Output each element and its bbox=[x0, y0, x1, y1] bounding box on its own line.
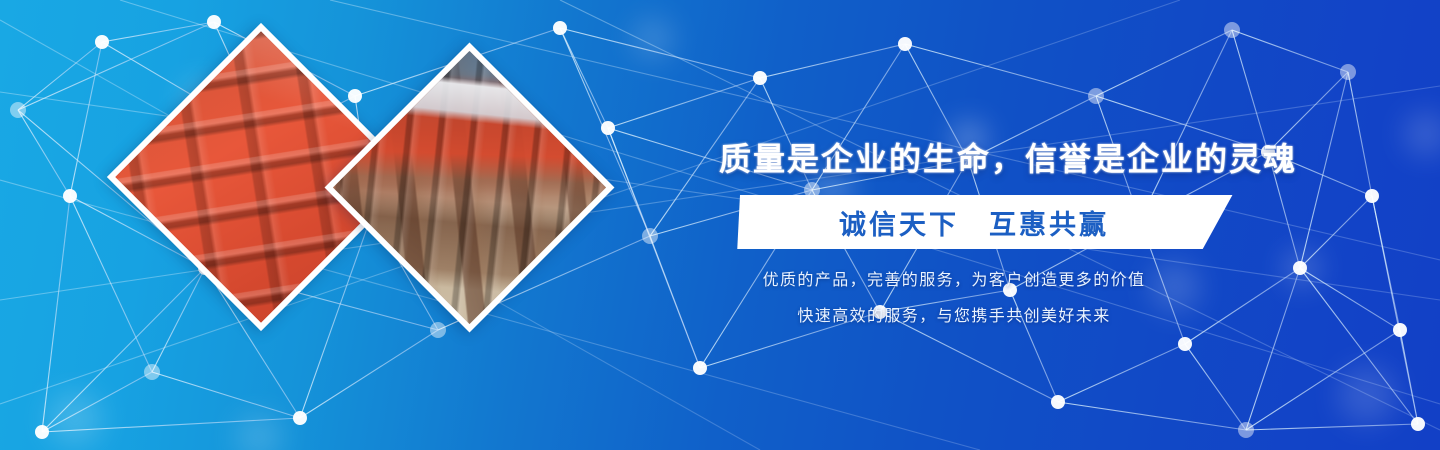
bokeh-blob bbox=[1284, 250, 1320, 286]
bokeh-blob bbox=[632, 18, 674, 60]
network-node bbox=[693, 361, 707, 375]
network-node bbox=[1178, 337, 1192, 351]
network-node bbox=[348, 89, 362, 103]
network-node bbox=[1411, 417, 1425, 431]
network-node bbox=[430, 322, 446, 338]
network-node bbox=[1224, 22, 1240, 38]
network-node bbox=[753, 71, 767, 85]
network-node bbox=[144, 364, 160, 380]
network-node bbox=[601, 121, 615, 135]
product-photo-right bbox=[325, 43, 615, 333]
photo-clip bbox=[333, 51, 606, 324]
bokeh-blob bbox=[1338, 366, 1396, 424]
slogan-ribbon: 诚信天下 互惠共赢 bbox=[700, 195, 1240, 249]
network-node bbox=[1088, 88, 1104, 104]
network-node bbox=[898, 37, 912, 51]
network-node bbox=[1365, 189, 1379, 203]
network-node bbox=[63, 189, 77, 203]
network-node bbox=[642, 228, 658, 244]
network-node bbox=[207, 15, 221, 29]
network-node bbox=[10, 102, 26, 118]
network-node bbox=[1293, 261, 1307, 275]
network-node bbox=[293, 411, 307, 425]
bokeh-blob bbox=[48, 392, 102, 446]
network-node bbox=[1238, 422, 1254, 438]
network-node bbox=[1393, 323, 1407, 337]
red-shafts-on-pallets bbox=[333, 51, 606, 324]
network-node bbox=[1051, 395, 1065, 409]
network-node bbox=[95, 35, 109, 49]
network-node bbox=[553, 21, 567, 35]
headline: 质量是企业的生命，信誉是企业的灵魂 bbox=[719, 134, 1259, 180]
subline-2: 快速高效的服务，与您携手共创美好未来 bbox=[719, 302, 1189, 326]
network-node bbox=[35, 425, 49, 439]
network-node bbox=[1340, 64, 1356, 80]
bokeh-blob bbox=[236, 414, 282, 450]
subline-1: 优质的产品，完善的服务，为客户创造更多的价值 bbox=[719, 266, 1189, 290]
slogan-ribbon-text: 诚信天下 互惠共赢 bbox=[700, 195, 1240, 249]
bokeh-blob bbox=[1404, 112, 1440, 156]
promo-banner: 质量是企业的生命，信誉是企业的灵魂 诚信天下 互惠共赢 优质的产品，完善的服务，… bbox=[0, 0, 1440, 450]
